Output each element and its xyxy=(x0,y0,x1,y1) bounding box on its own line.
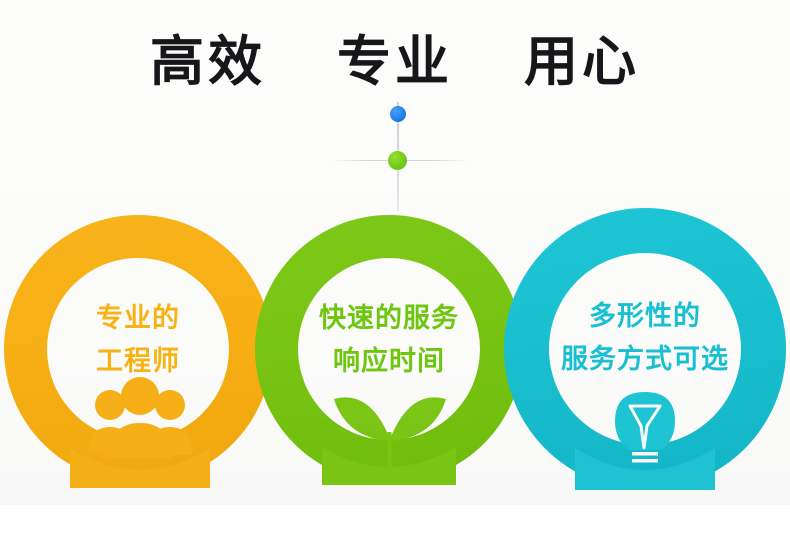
circle-engineers-line1: 专业的 xyxy=(96,303,180,333)
circle-response-time-line1: 快速的服务 xyxy=(319,303,459,333)
circle-engineers-line2: 工程师 xyxy=(4,340,272,383)
circle-response-time-label: 快速的服务 响应时间 xyxy=(254,297,524,383)
circle-response-time[interactable]: 快速的服务 响应时间 xyxy=(254,202,524,495)
poster-canvas: 高效 专业 用心 xyxy=(0,0,790,557)
circle-response-time-line2: 响应时间 xyxy=(254,340,524,383)
circle-engineers-label: 专业的 工程师 xyxy=(4,297,272,383)
circle-engineers[interactable]: 专业的 工程师 xyxy=(4,203,272,495)
circle-service-modes-line2: 服务方式可选 xyxy=(500,338,790,381)
circle-service-modes[interactable]: 多形性的 服务方式可选 xyxy=(505,202,786,495)
circle-service-modes-label: 多形性的 服务方式可选 xyxy=(500,295,790,381)
circle-service-modes-line1: 多形性的 xyxy=(589,301,701,331)
